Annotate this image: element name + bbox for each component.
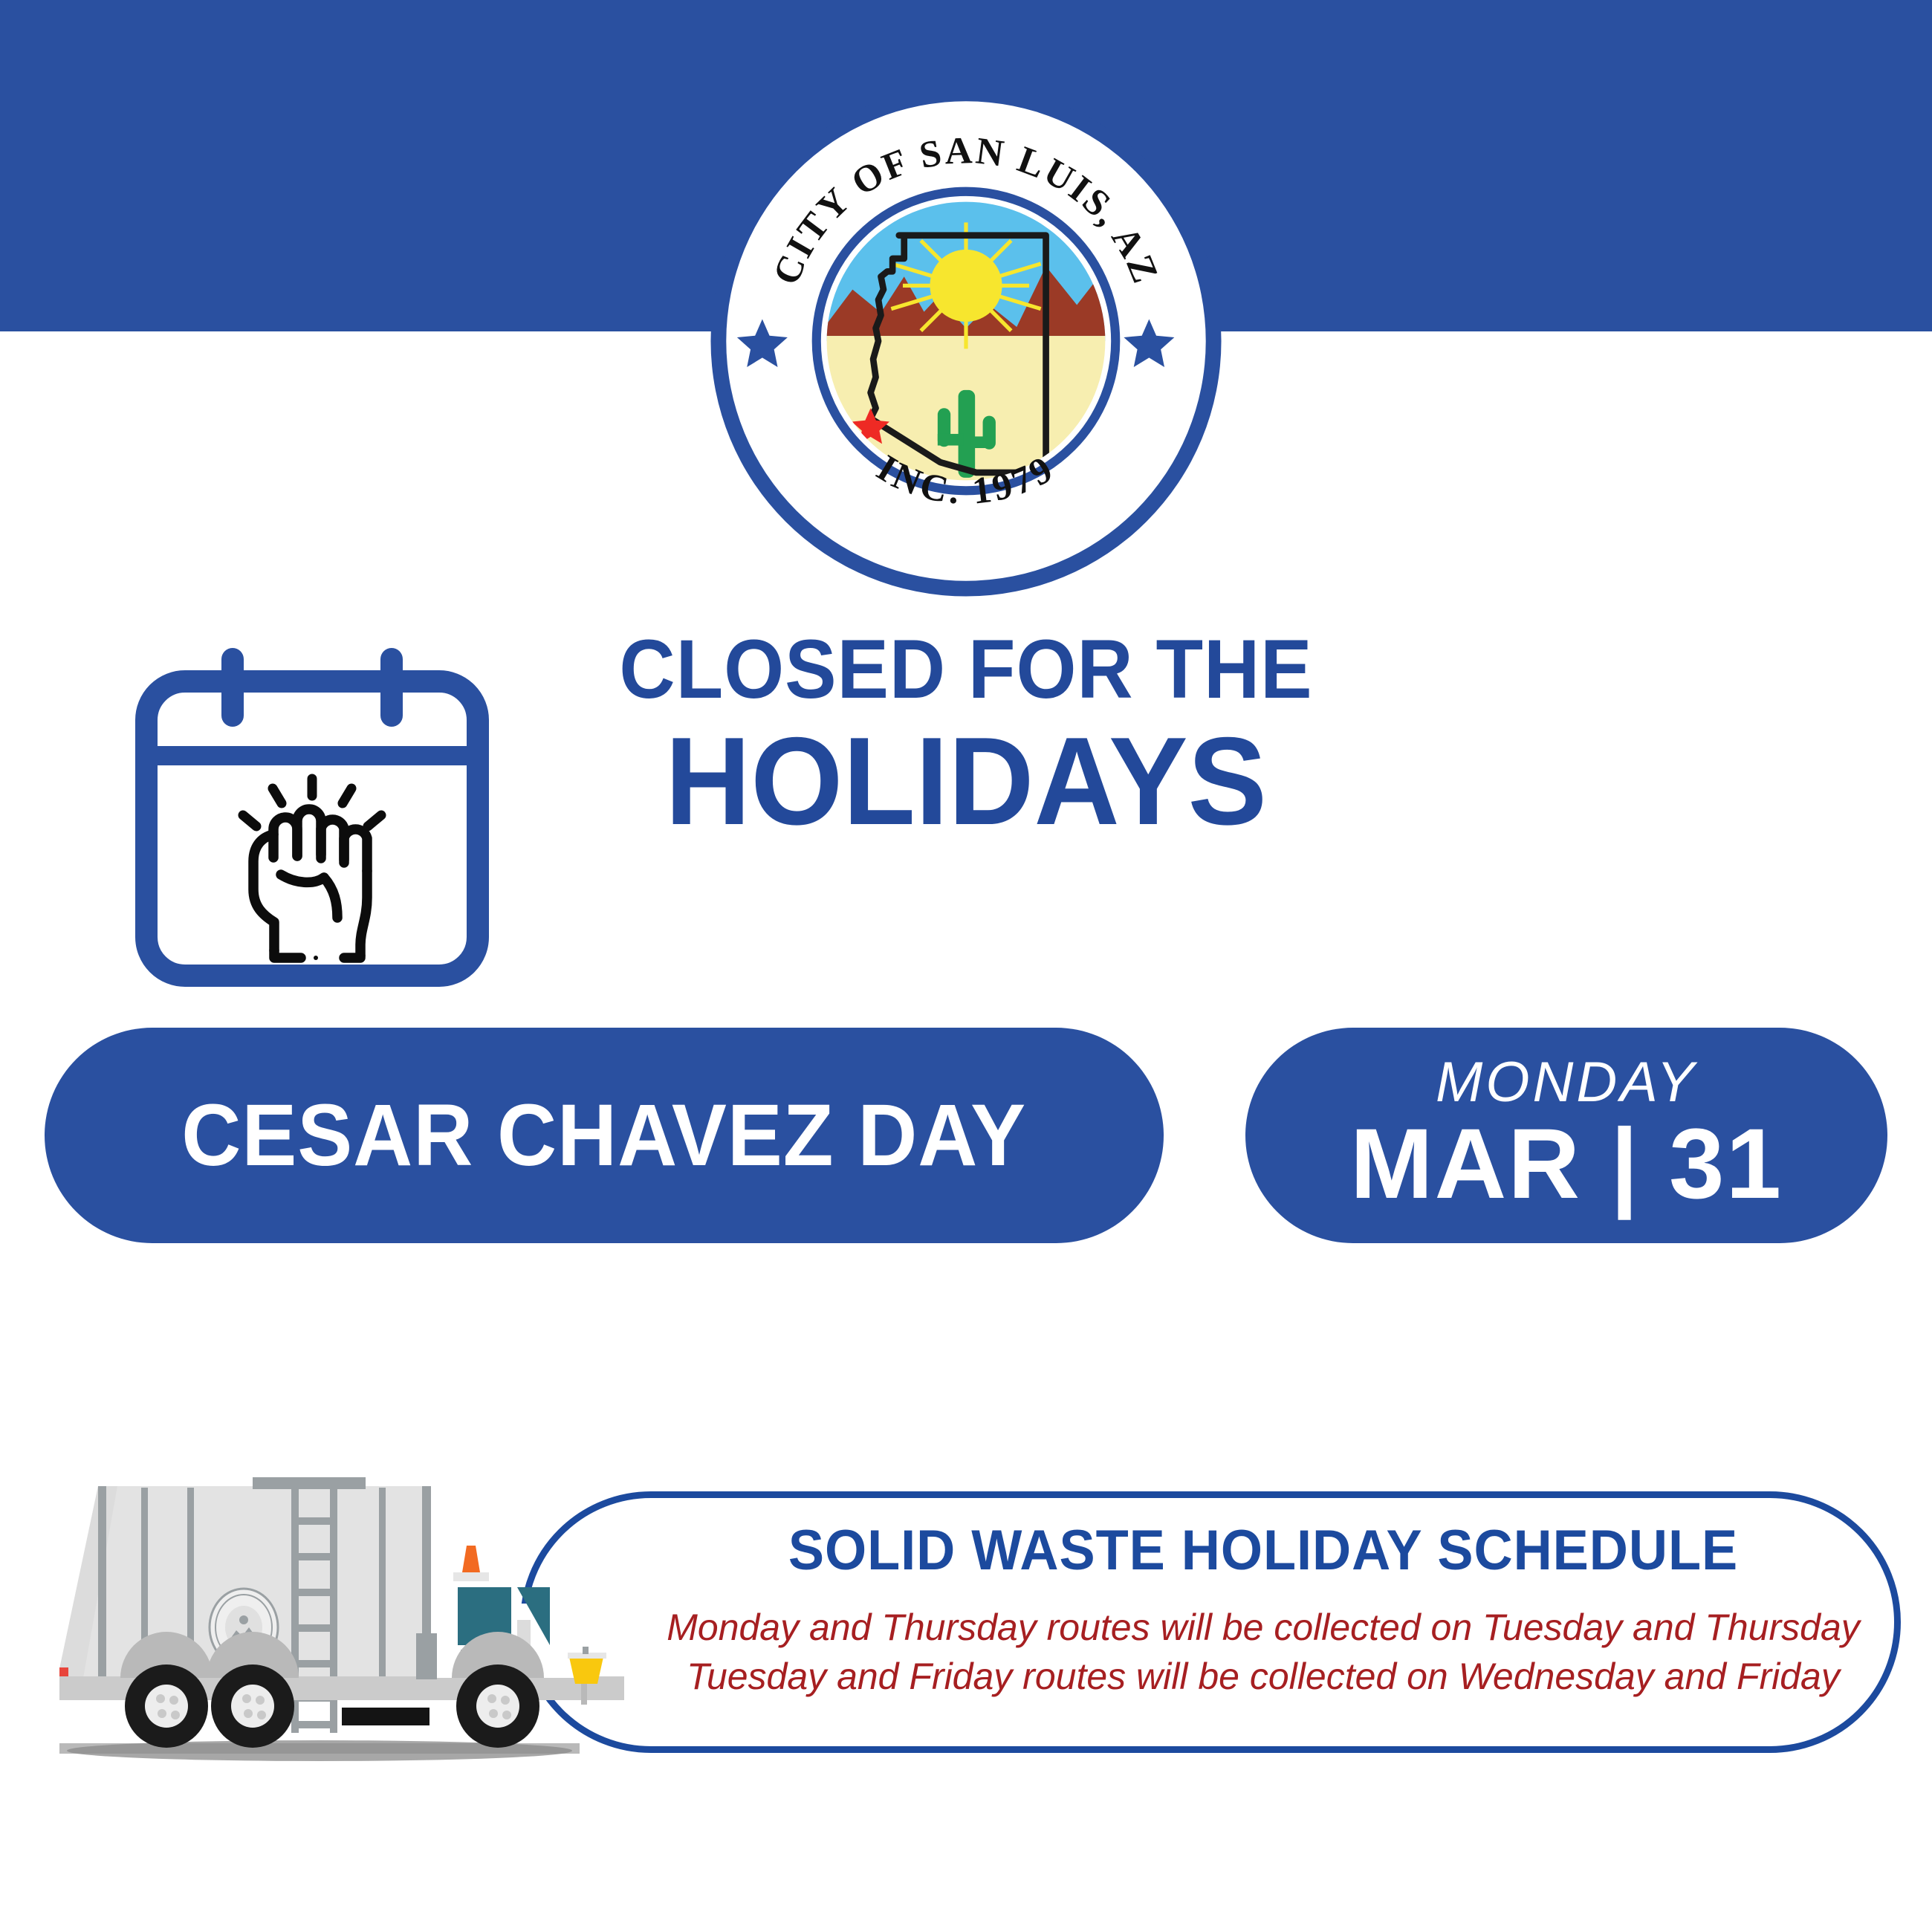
raised-fist: [253, 809, 367, 960]
schedule-content: SOLID WASTE HOLIDAY SCHEDULE Monday and …: [654, 1520, 1873, 1728]
holiday-date-pill: MONDAY MAR | 31: [1245, 1028, 1887, 1243]
headline-line-1: CLOSED FOR THE: [551, 628, 1381, 711]
calendar-raised-fist-icon: [130, 643, 494, 992]
schedule-note-lines: Monday and Thursday routes will be colle…: [654, 1603, 1873, 1701]
impact-lines: [243, 779, 381, 826]
calendar-body: [146, 681, 478, 976]
holiday-name-label: CESAR CHAVEZ DAY: [182, 1085, 1027, 1186]
schedule-title: SOLID WASTE HOLIDAY SCHEDULE: [684, 1520, 1842, 1582]
headline-block: CLOSED FOR THE HOLIDAYS: [520, 628, 1412, 846]
city-seal: CITY OF SAN LUIS, AZ INC. 1979: [708, 83, 1224, 599]
schedule-note-line: Tuesday and Friday routes will be collec…: [654, 1652, 1873, 1701]
weekday-label: MONDAY: [1436, 1054, 1697, 1111]
schedule-note-line: Monday and Thursday routes will be colle…: [654, 1603, 1873, 1652]
holiday-name-pill: CESAR CHAVEZ DAY: [45, 1028, 1164, 1243]
month-day-label: MAR | 31: [1350, 1112, 1783, 1217]
headline-line-2: HOLIDAYS: [542, 716, 1390, 846]
garbage-truck-illustration: [30, 1455, 646, 1771]
warning-cone: [453, 1546, 489, 1581]
